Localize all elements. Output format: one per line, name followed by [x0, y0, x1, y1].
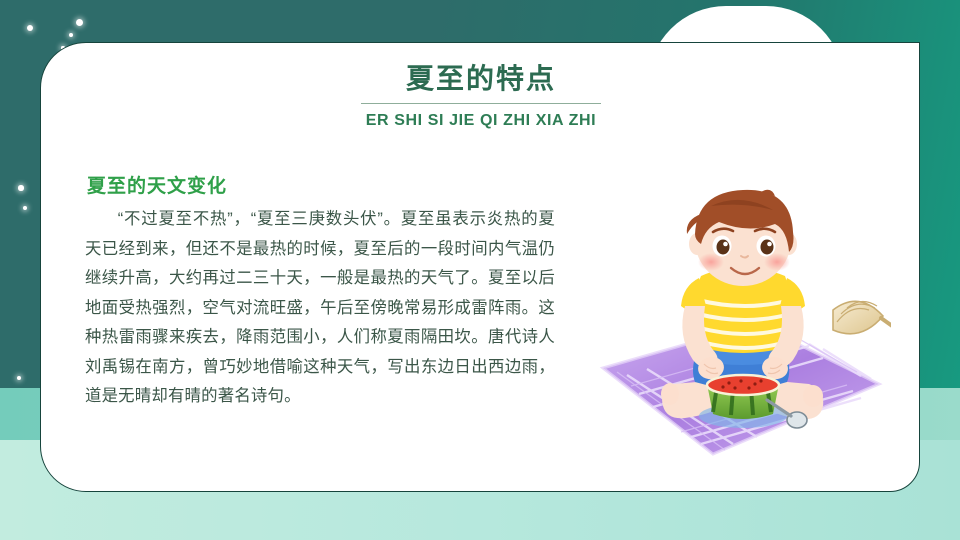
page-subtitle-pinyin: ER SHI SI JIE QI ZHI XIA ZHI — [41, 112, 920, 130]
body-paragraph: “不过夏至不热”，“夏至三庚数头伏”。夏至虽表示炎热的夏天已经到来，但还不是最热… — [85, 205, 555, 412]
title-divider — [361, 103, 601, 104]
decor-dot — [18, 185, 23, 190]
illustration-boy-eating-watermelon — [561, 188, 891, 488]
decor-dot — [23, 206, 27, 210]
page-title: 夏至的特点 — [41, 60, 920, 98]
decor-dot — [76, 19, 83, 26]
decor-dot — [27, 25, 33, 31]
decor-dot — [69, 33, 73, 37]
watermelon-bowl — [699, 375, 787, 428]
section-heading: 夏至的天文变化 — [87, 171, 227, 198]
hand-fan — [833, 301, 891, 333]
card-header: 夏至的特点 ER SHI SI JIE QI ZHI XIA ZHI — [41, 43, 920, 130]
decor-dot — [17, 376, 21, 380]
content-card: 夏至的特点 ER SHI SI JIE QI ZHI XIA ZHI 夏至的天文… — [40, 42, 920, 492]
